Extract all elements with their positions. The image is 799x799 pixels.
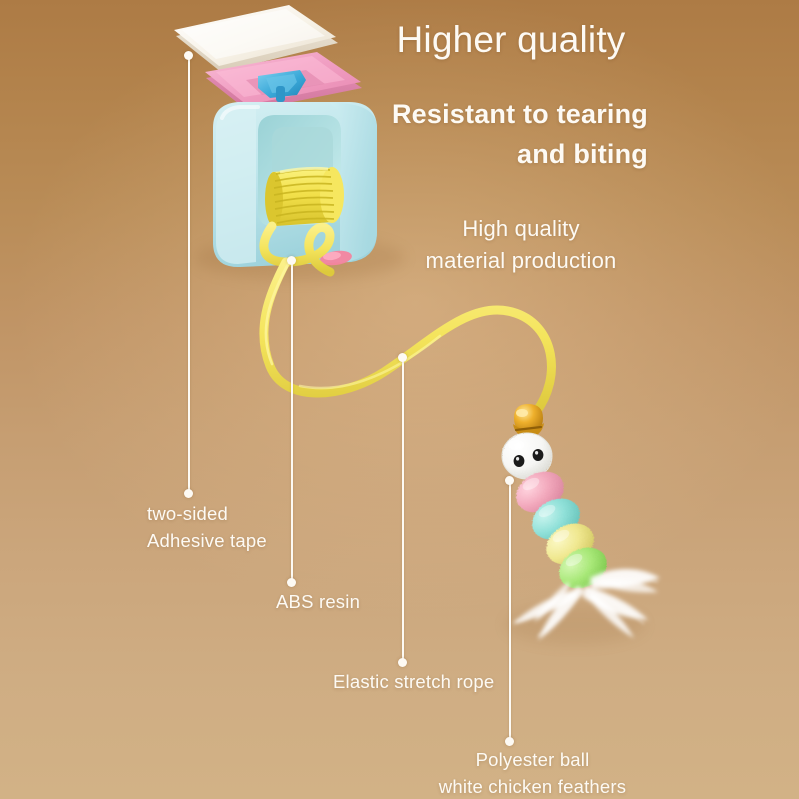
tagline: High quality material production (395, 213, 647, 277)
leader-dot-ball-end (505, 737, 514, 746)
leader-dot-adhesive-end (184, 489, 193, 498)
leader-line-abs (291, 263, 293, 583)
callout-polyester-ball-feathers: Polyester ball white chicken feathers (425, 746, 640, 799)
callout-two-sided-adhesive-tape: two-sided Adhesive tape (147, 500, 267, 554)
leader-dot-adhesive (184, 51, 193, 60)
leader-dot-abs-end (287, 578, 296, 587)
leader-dot-rope (398, 353, 407, 362)
leader-dot-abs (287, 256, 296, 265)
leader-line-rope (402, 360, 404, 663)
leader-line-adhesive (188, 58, 190, 495)
infographic-canvas: Higher quality Resistant to tearing and … (0, 0, 799, 799)
subheadline: Resistant to tearing and biting (330, 94, 648, 174)
leader-dot-ball (505, 476, 514, 485)
leader-line-ball (509, 483, 511, 742)
leader-dot-rope-end (398, 658, 407, 667)
spring-illustration (265, 167, 344, 226)
callout-elastic-stretch-rope: Elastic stretch rope (333, 668, 494, 695)
callout-abs-resin: ABS resin (276, 588, 360, 615)
headline: Higher quality (375, 18, 647, 62)
